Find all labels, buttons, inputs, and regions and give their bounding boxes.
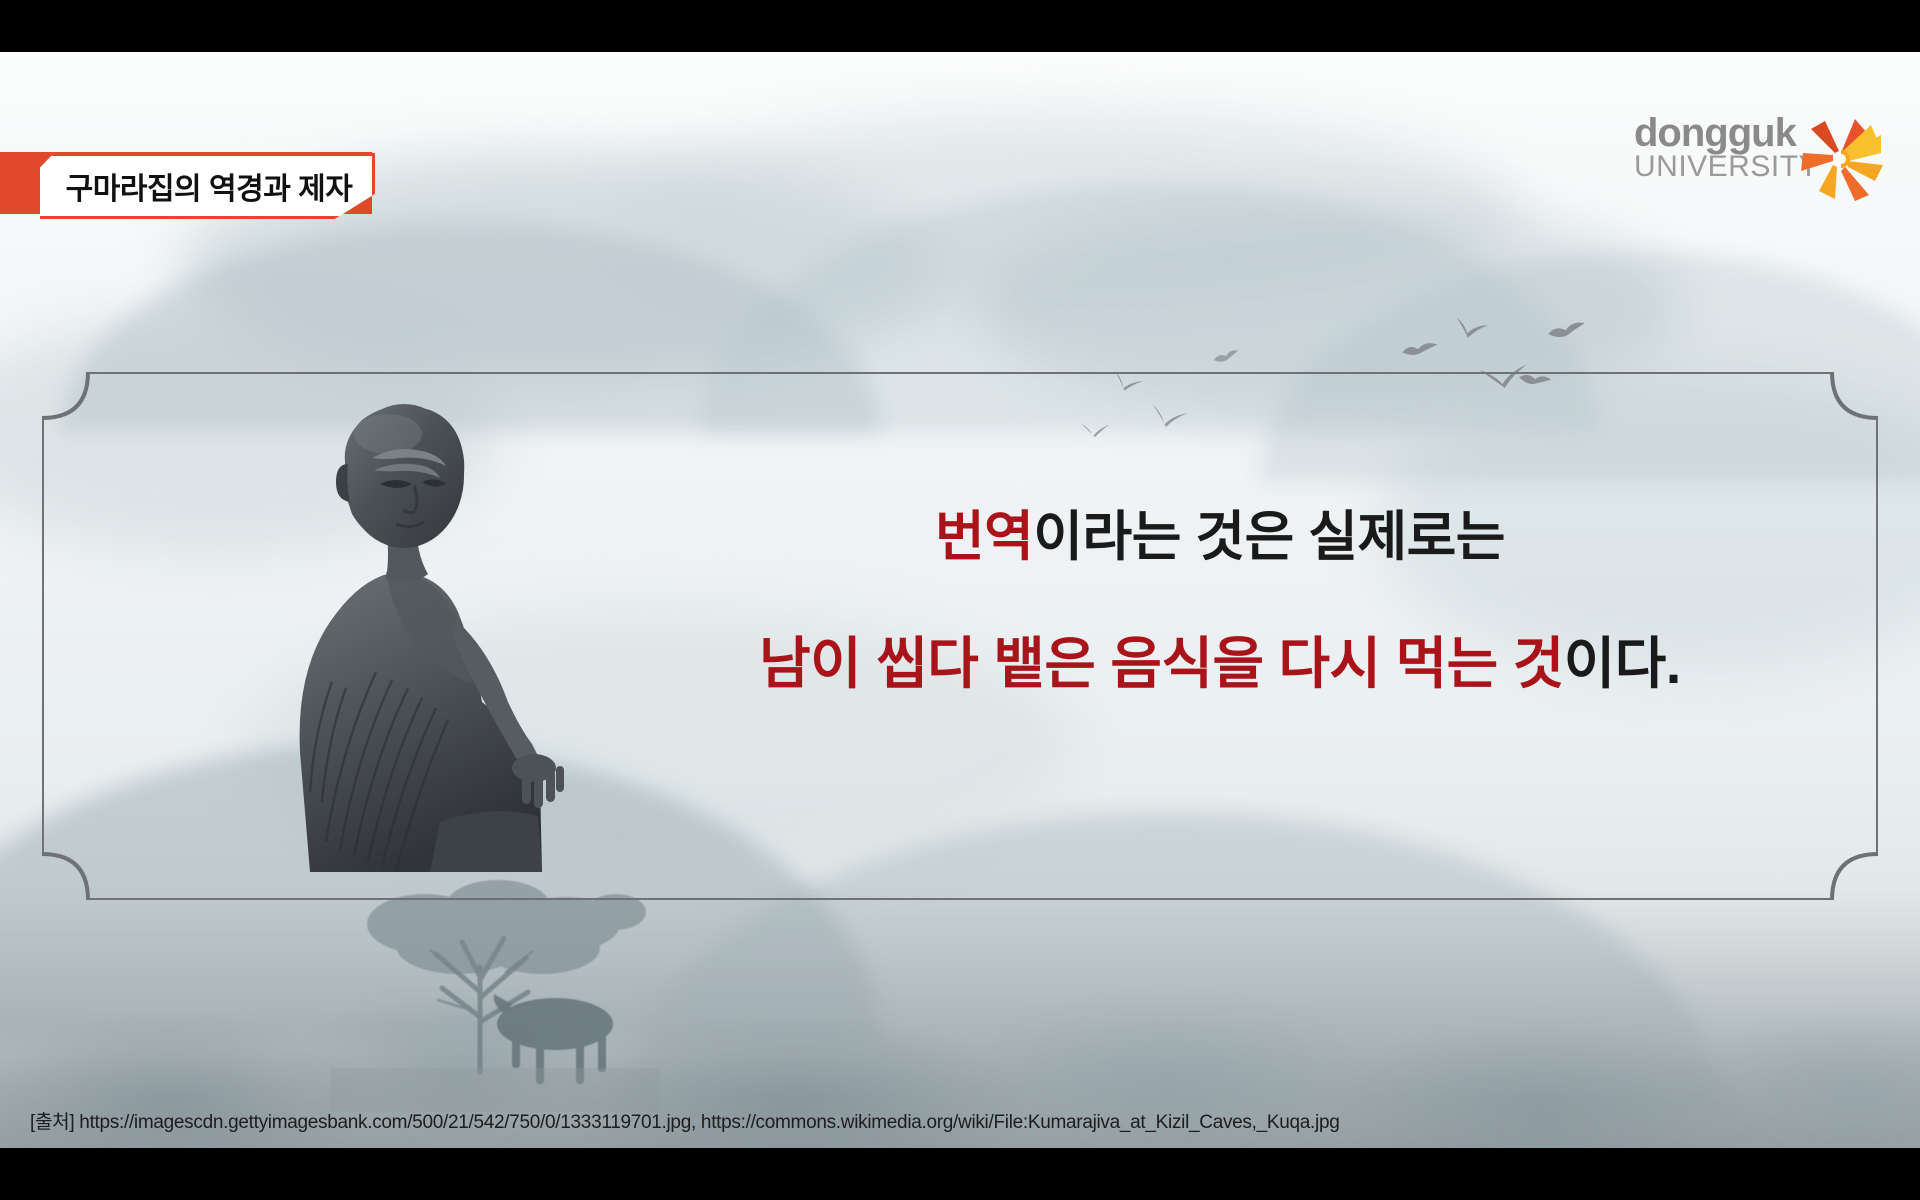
- logo-subtitle: UNIVERSITY: [1634, 152, 1802, 182]
- swallow-bird-icon: [1079, 418, 1111, 439]
- quote-rest-1: 이라는 것은 실제로는: [1033, 507, 1505, 567]
- title-banner-box: 구마라집의 역경과 제자: [40, 153, 375, 219]
- logo-name: dongguk: [1634, 114, 1802, 152]
- quote-accent-2: 남이 씹다 뱉은 음식을 다시 먹는 것: [759, 632, 1564, 695]
- source-footer: [출처] https://imagescdn.gettyimagesbank.c…: [0, 1092, 1920, 1148]
- logo-wordmark: dongguk UNIVERSITY: [1634, 114, 1802, 182]
- source-text: [출처] https://imagescdn.gettyimagesbank.c…: [0, 1107, 1340, 1134]
- dongguk-university-logo: dongguk UNIVERSITY: [1634, 114, 1884, 206]
- page-title: 구마라집의 역경과 제자: [60, 164, 353, 208]
- presentation-screen: 번역이라는 것은 실제로는 남이 씹다 뱉은 음식을 다시 먹는 것이다. 구마…: [0, 0, 1920, 1200]
- slide-canvas: 번역이라는 것은 실제로는 남이 씹다 뱉은 음식을 다시 먹는 것이다. 구마…: [0, 52, 1920, 1148]
- quote-line-2: 남이 씹다 뱉은 음식을 다시 먹는 것이다.: [600, 619, 1840, 700]
- quote-accent-1: 번역: [935, 507, 1033, 567]
- kumarajiva-statue-image: [190, 372, 570, 872]
- pinwheel-emblem-icon: [1798, 116, 1884, 202]
- quote-rest-2: 이다.: [1564, 632, 1681, 695]
- ink-tree-icon: [330, 872, 660, 1112]
- quote-block: 번역이라는 것은 실제로는 남이 씹다 뱉은 음식을 다시 먹는 것이다.: [600, 492, 1840, 700]
- quote-line-1: 번역이라는 것은 실제로는: [600, 492, 1840, 571]
